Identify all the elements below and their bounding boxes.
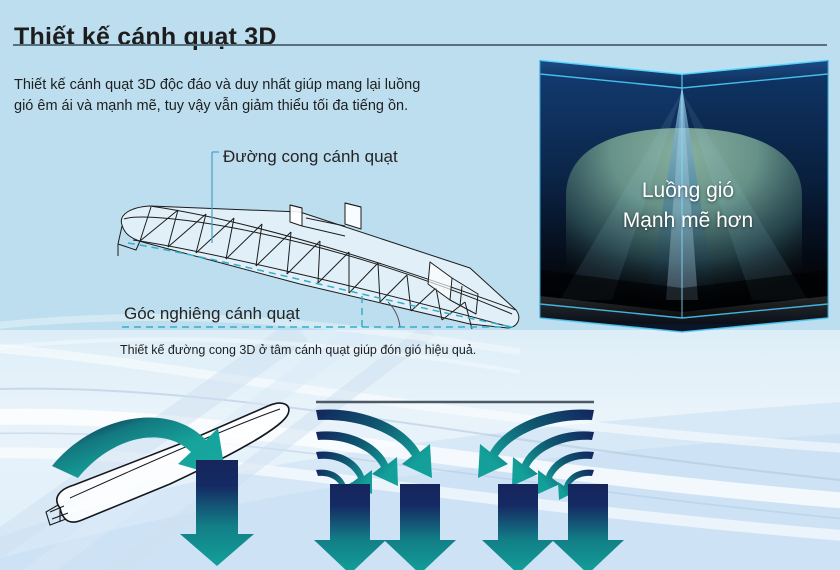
intro-paragraph: Thiết kế cánh quạt 3D độc đáo và duy nhấ… [14, 75, 434, 117]
infographic-stage: Thiết kế cánh quạt 3D Thiết kế cánh quạt… [0, 0, 840, 570]
label-blade-tilt-angle: Góc nghiêng cánh quạt [124, 304, 300, 324]
title-divider [13, 44, 827, 46]
blade-diagram-caption: Thiết kế đường cong 3D ở tâm cánh quạt g… [120, 343, 476, 357]
airflow-room-panel [539, 59, 829, 332]
label-blade-curve: Đường cong cánh quạt [223, 147, 398, 167]
page-title: Thiết kế cánh quạt 3D [14, 23, 277, 52]
